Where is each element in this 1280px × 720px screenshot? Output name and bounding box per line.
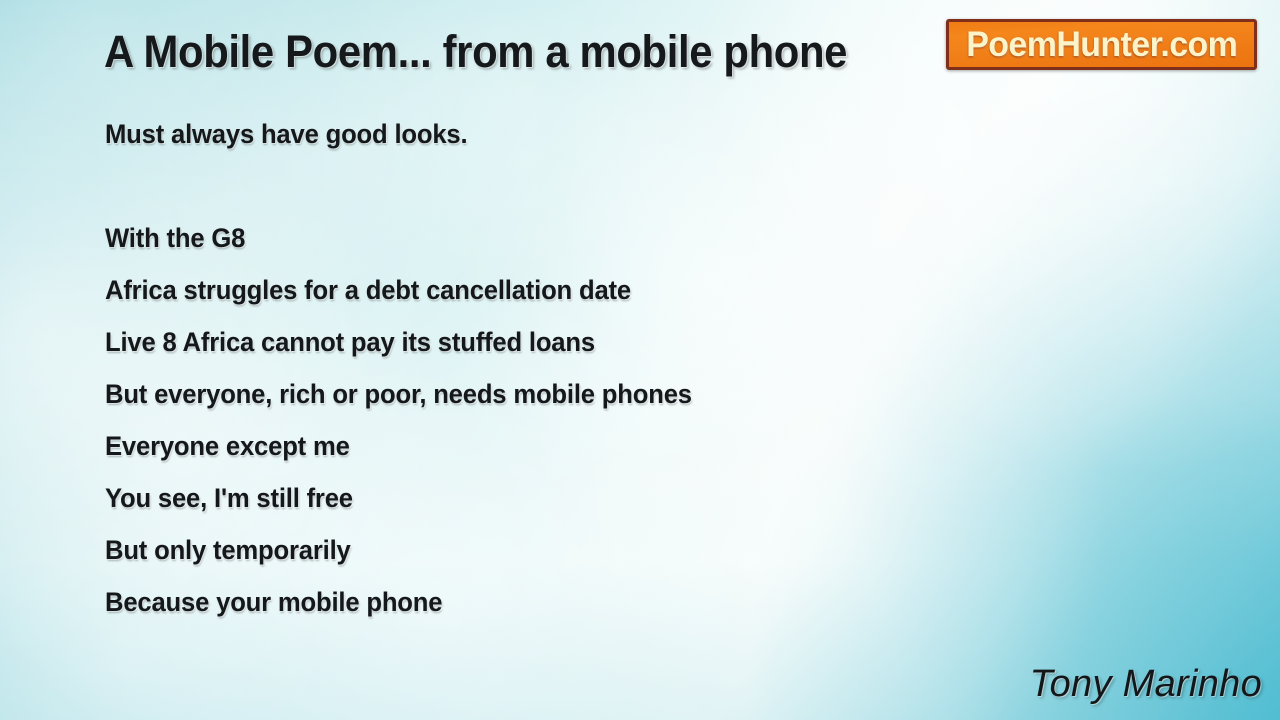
poem-line: Everyone except me	[105, 420, 894, 472]
poem-line: Africa struggles for a debt cancellation…	[105, 264, 894, 316]
poem-author: Tony Marinho	[1030, 663, 1262, 706]
poem-line: But only temporarily	[105, 524, 894, 576]
poem-line-blank	[105, 160, 894, 212]
brand-label: PoemHunter.com	[966, 25, 1237, 65]
poemhunter-brand-badge[interactable]: PoemHunter.com	[946, 19, 1257, 70]
poem-line: You see, I'm still free	[105, 472, 894, 524]
page-title: A Mobile Poem... from a mobile phone	[104, 26, 847, 78]
poem-line: With the G8	[105, 212, 894, 264]
poem-line: But everyone, rich or poor, needs mobile…	[105, 368, 894, 420]
poem-body: Must always have good looks. With the G8…	[105, 108, 935, 628]
poem-image-canvas: A Mobile Poem... from a mobile phone Mus…	[0, 0, 1280, 720]
poem-line: Because your mobile phone	[105, 576, 894, 628]
poem-line: Must always have good looks.	[105, 108, 894, 160]
poem-line: Live 8 Africa cannot pay its stuffed loa…	[105, 316, 894, 368]
